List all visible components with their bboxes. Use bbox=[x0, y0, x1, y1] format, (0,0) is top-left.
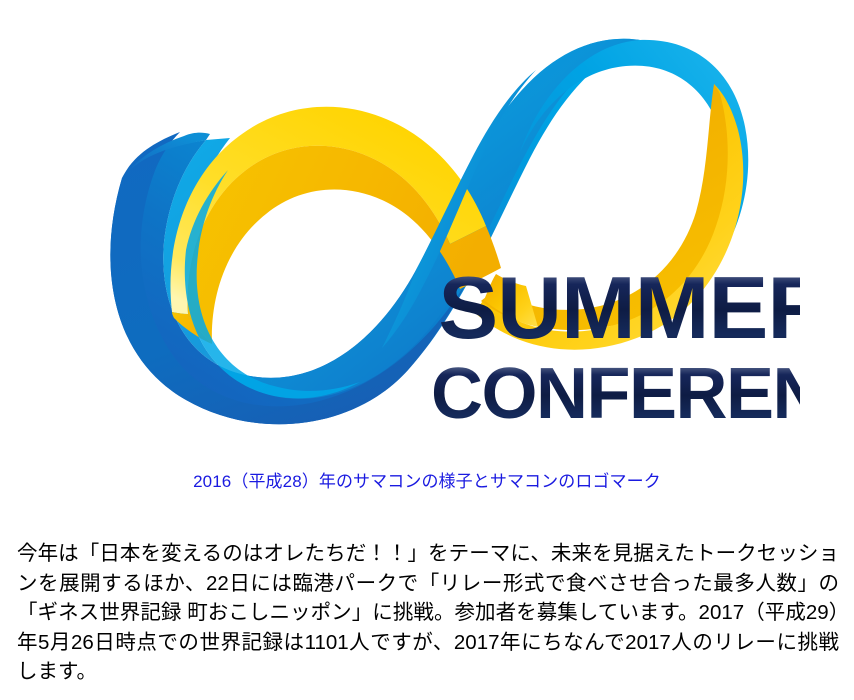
wordmark-summer: SUMMER bbox=[438, 259, 800, 357]
logo-svg: SUMMER CONFERENCE bbox=[60, 18, 800, 458]
wordmark-conference: CONFERENCE bbox=[431, 354, 800, 434]
logo-wordmark: SUMMER CONFERENCE bbox=[431, 259, 800, 434]
page-root: SUMMER CONFERENCE 2016（平成28）年のサマコンの様子とサマ… bbox=[0, 0, 854, 700]
logo-figure: SUMMER CONFERENCE 2016（平成28）年のサマコンの様子とサマ… bbox=[0, 0, 854, 505]
article-paragraph: 今年は「日本を変えるのはオレたちだ！！」をテーマに、未来を見据えたトークセッショ… bbox=[17, 539, 839, 687]
summer-conference-logo: SUMMER CONFERENCE bbox=[60, 18, 800, 458]
figure-caption: 2016（平成28）年のサマコンの様子とサマコンのロゴマーク bbox=[0, 470, 854, 494]
